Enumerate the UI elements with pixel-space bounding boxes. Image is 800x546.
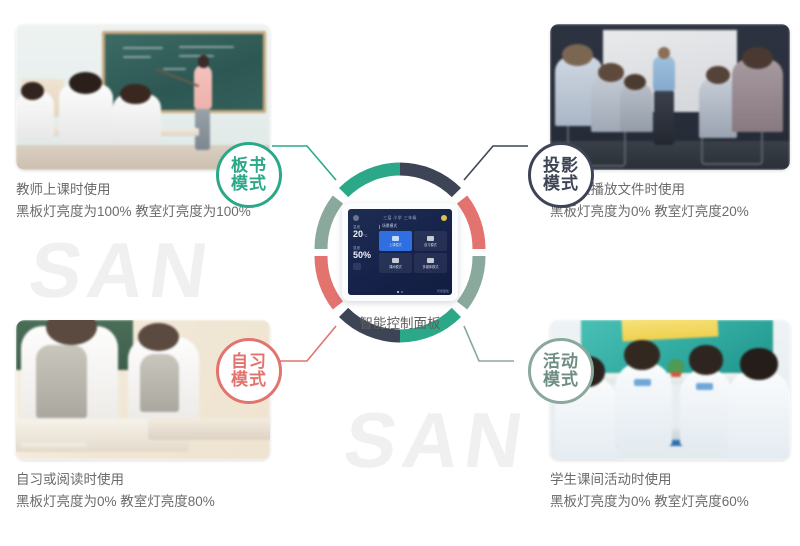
temperature-value: 20°C [353,229,375,241]
panel-room-title: 三层 小学 三年级 [383,215,417,221]
temperature-unit: °C [363,233,368,238]
scene-tile-label: 课间模式 [389,264,402,269]
caption-line1: 学生课间活动时使用 [550,469,800,490]
panel-scene-section: 场景模式 上课模式 自习模式 课间模式 [379,224,447,287]
scene-tile-multimedia[interactable]: 多媒体模式 [414,253,447,273]
ring-segment-1 [344,169,400,193]
scene-tile-grid: 上课模式 自习模式 课间模式 多媒体模式 [379,231,447,273]
badge-activity-mode[interactable]: 活动 模式 [528,338,594,404]
smart-control-panel-device[interactable]: 三层 小学 三年级 温度 20°C 湿度 50% 场景模式 [342,203,458,301]
brightness-icon[interactable] [441,215,447,221]
ring-segment-3 [462,200,479,250]
card-activity-mode[interactable]: 活动 模式 学生课间活动时使用 黑板灯亮度为0% 教室灯亮度60% [550,320,800,513]
badge-line1: 活动 [543,353,579,372]
badge-projection-mode[interactable]: 投影 模式 [528,142,594,208]
caption-line1: 自习或阅读时使用 [16,469,284,490]
connector-projection [464,146,528,180]
panel-screen[interactable]: 三层 小学 三年级 温度 20°C 湿度 50% 场景模式 [348,209,452,295]
badge-line2: 模式 [543,371,579,390]
badge-line1: 投影 [543,157,579,176]
badge-line2: 模式 [231,371,267,390]
scene-tile-label: 上课模式 [389,242,402,247]
ring-segment-7 [321,256,338,306]
caption-line2: 黑板灯亮度为0% 教室灯亮度60% [550,491,800,512]
ring-segment-2 [400,169,456,193]
card-blackboard-mode[interactable]: 板书 模式 教师上课时使用 黑板灯亮度为100% 教室灯亮度为100% [16,24,284,223]
break-mode-icon [392,258,399,263]
panel-sensor-column: 温度 20°C 湿度 50% [353,224,375,287]
humidity-value: 50% [353,250,375,260]
caption-activity-mode: 学生课间活动时使用 黑板灯亮度为0% 教室灯亮度60% [550,469,800,512]
panel-brand-tag: 智能面板 [437,289,449,293]
watermark-right: SAN [339,395,534,486]
caption-line2: 黑板灯亮度为0% 教室灯亮度20% [550,201,800,222]
multimedia-mode-icon [427,258,434,263]
page-dot-2[interactable] [401,291,403,293]
scene-tile-class[interactable]: 上课模式 [379,231,412,251]
badge-blackboard-mode[interactable]: 板书 模式 [216,142,282,208]
photo-projection-mode [550,24,790,170]
badge-selfstudy-mode[interactable]: 自习 模式 [216,338,282,404]
page-dot-1[interactable] [397,291,399,293]
scene-tile-selfstudy[interactable]: 自习模式 [414,231,447,251]
temperature-number: 20 [353,229,363,239]
scene-tile-label: 自习模式 [424,242,437,247]
badge-line1: 板书 [231,157,267,176]
panel-menu-button[interactable] [353,263,361,270]
card-selfstudy-mode[interactable]: 自习 模式 自习或阅读时使用 黑板灯亮度为0% 教室灯亮度80% [16,320,284,513]
scene-mode-heading: 场景模式 [379,224,447,229]
caption-selfstudy-mode: 自习或阅读时使用 黑板灯亮度为0% 教室灯亮度80% [16,469,284,512]
scene-tile-label: 多媒体模式 [423,264,439,269]
ring-segment-4 [462,256,479,306]
watermark-left: SAN [24,225,219,316]
infographic-canvas: SAN SAN [0,0,800,546]
selfstudy-mode-icon [427,236,434,241]
class-mode-icon [392,236,399,241]
caption-line2: 黑板灯亮度为0% 教室灯亮度80% [16,491,284,512]
badge-line2: 模式 [231,175,267,194]
center-label: 智能控制面板 [300,312,500,332]
ring-segment-8 [321,200,338,250]
card-projection-mode[interactable]: 投影 模式 投影仪播放文件时使用 黑板灯亮度为0% 教室灯亮度20% [550,24,800,223]
panel-statusbar: 三层 小学 三年级 [353,213,447,222]
badge-line2: 模式 [543,175,579,194]
scene-projection-room [550,24,790,170]
wifi-icon [353,215,359,221]
scene-tile-break[interactable]: 课间模式 [379,253,412,273]
badge-line1: 自习 [231,353,267,372]
